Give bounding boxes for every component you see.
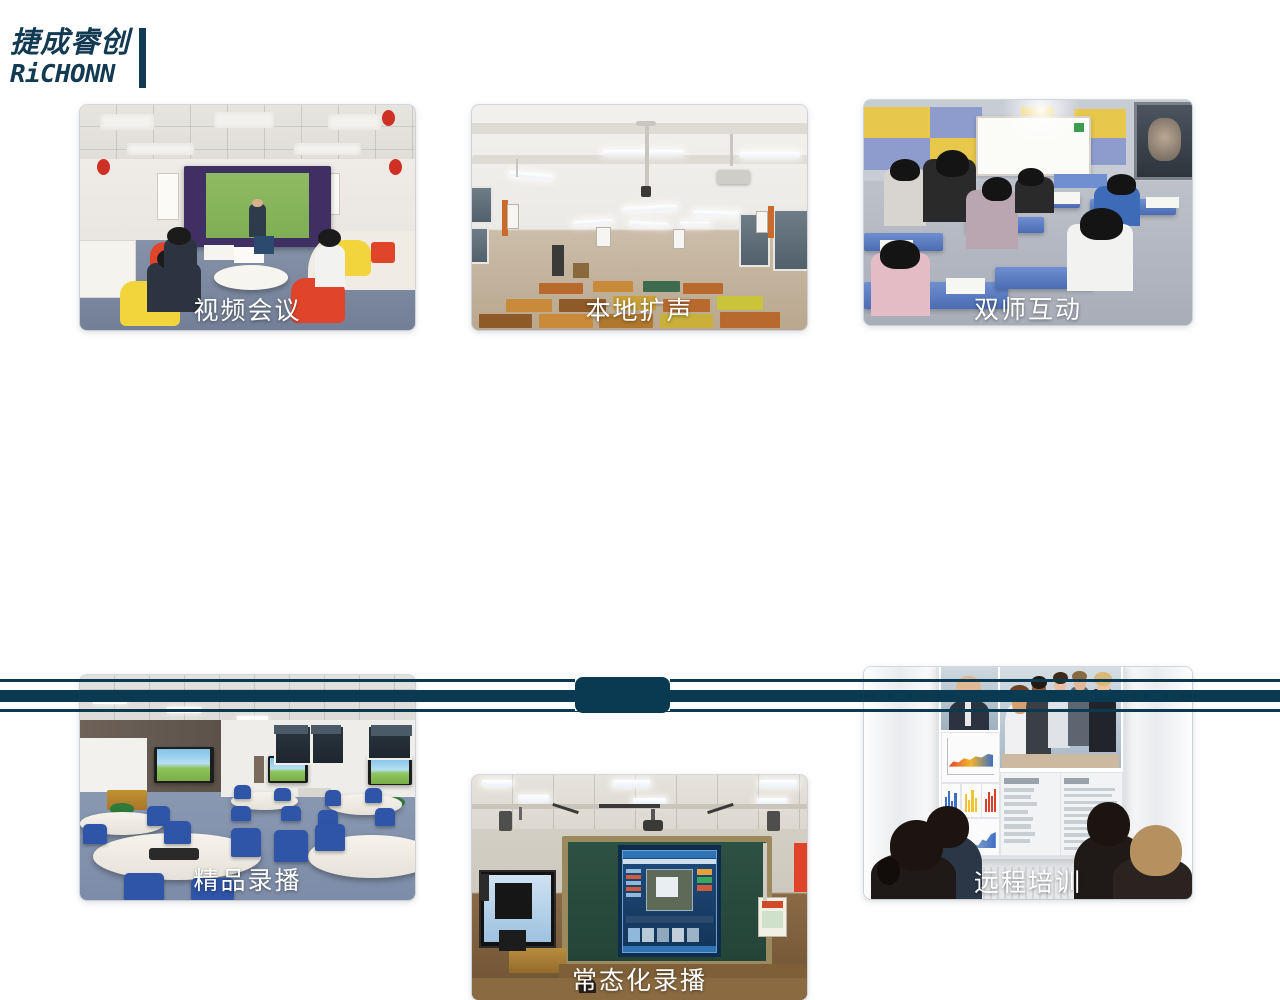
scene-lecture-hall-audio (472, 105, 807, 330)
brand-divider-bar (139, 28, 146, 88)
scenario-card-local-audio[interactable]: 本地扩声 (472, 105, 807, 330)
footer-center-badge (575, 677, 670, 713)
gallery-row: 视频会议 (0, 100, 1280, 385)
gallery-row: 精品录播 (0, 385, 1280, 670)
brand-name-en: RiCHONN (10, 61, 134, 86)
page-header: 捷成睿创 RiCHONN (0, 0, 1280, 104)
scene-dual-teacher-classroom (864, 100, 1192, 325)
page-footer (0, 665, 1280, 720)
scene-video-conference-room (80, 105, 415, 330)
brand-logo[interactable]: 捷成睿创 RiCHONN (10, 26, 146, 88)
scenario-card-dual-teacher[interactable]: 双师互动 (864, 100, 1192, 325)
brand-name-cn: 捷成睿创 (10, 28, 130, 57)
scene-normalized-recording-classroom (472, 775, 807, 1000)
scenario-card-normalized-recording[interactable]: 常态化录播 (472, 775, 807, 1000)
scenario-card-video-conference[interactable]: 视频会议 (80, 105, 415, 330)
scenario-gallery: 视频会议 (0, 100, 1280, 670)
brand-logo-text: 捷成睿创 RiCHONN (10, 28, 130, 86)
